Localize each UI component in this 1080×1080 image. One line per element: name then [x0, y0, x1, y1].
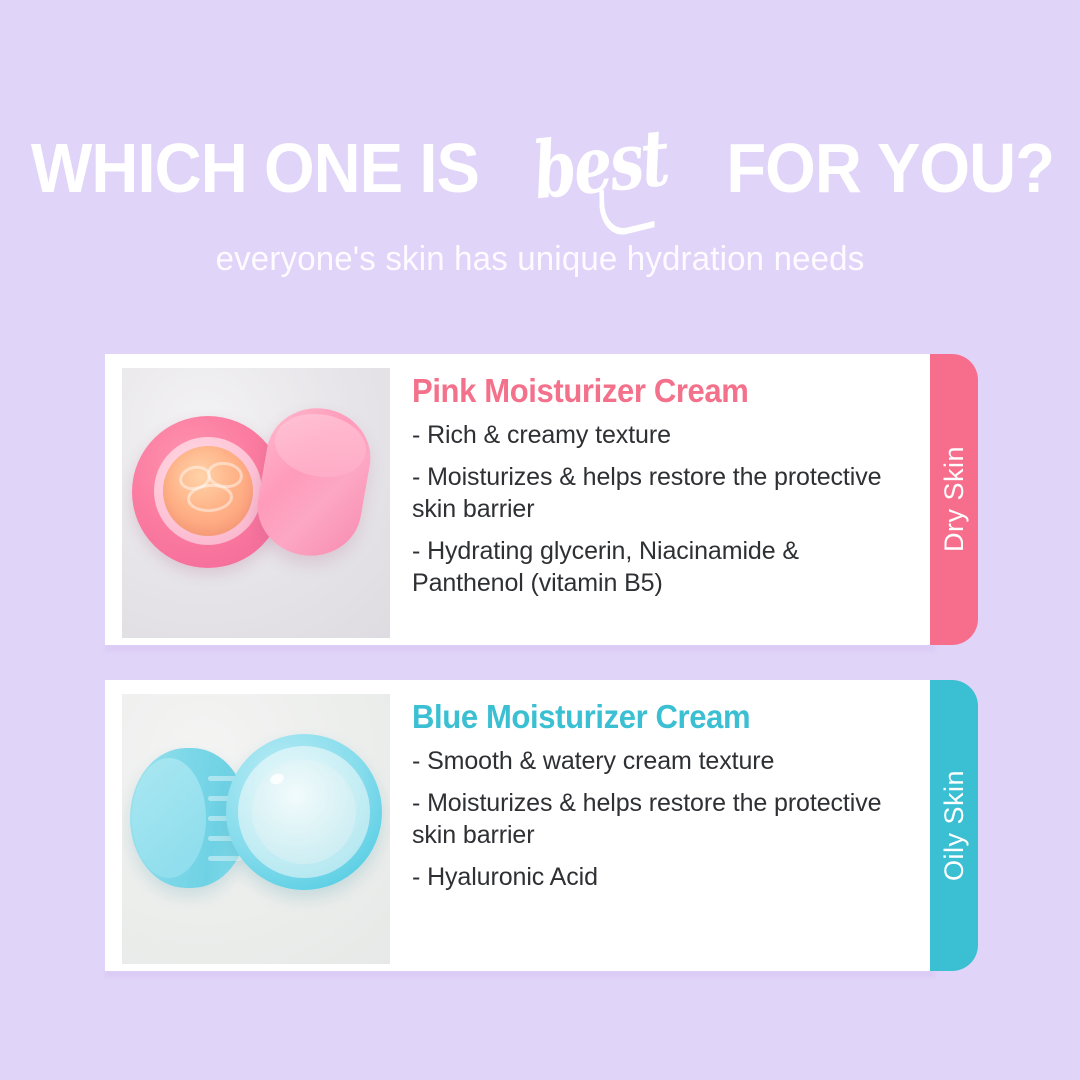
bullet-item: - Moisturizes & helps restore the protec… — [412, 461, 902, 525]
product-title-blue: Blue Moisturizer Cream — [412, 698, 873, 736]
pink-lid-highlight — [270, 407, 371, 484]
bullet-item: - Hyaluronic Acid — [412, 861, 902, 893]
tab-label-oily-skin: Oily Skin — [939, 770, 970, 881]
pink-cream-surface — [163, 446, 253, 536]
headline-part-1: WHICH ONE IS — [30, 133, 478, 203]
product-card-blue[interactable]: Blue Moisturizer Cream - Smooth & watery… — [105, 680, 930, 971]
tab-label-dry-skin: Dry Skin — [939, 446, 970, 552]
product-image-pink — [122, 368, 390, 638]
headline: WHICH ONE IS best FOR YOU? — [0, 130, 1080, 214]
bullet-item: - Smooth & watery cream texture — [412, 745, 902, 777]
gel-bubble — [269, 772, 286, 786]
product-card-pink[interactable]: Pink Moisturizer Cream - Rich & creamy t… — [105, 354, 930, 645]
subtitle: everyone's skin has unique hydration nee… — [16, 240, 1064, 279]
card-body-pink: Pink Moisturizer Cream - Rich & creamy t… — [390, 354, 930, 609]
skin-type-tab-dry[interactable]: Dry Skin — [930, 354, 978, 645]
headline-part-2: FOR YOU? — [726, 133, 1054, 203]
bullet-item: - Rich & creamy texture — [412, 419, 902, 451]
poster-canvas: WHICH ONE IS best FOR YOU? everyone's sk… — [0, 0, 1080, 1080]
card-body-blue: Blue Moisturizer Cream - Smooth & watery… — [390, 680, 930, 903]
pink-jar-rim — [154, 437, 262, 545]
bullet-item: - Moisturizes & helps restore the protec… — [412, 787, 902, 851]
bullet-item: - Hydrating glycerin, Niacinamide & Pant… — [412, 535, 902, 599]
headline-script-word: best — [525, 119, 676, 212]
blue-gel-surface — [252, 760, 356, 864]
blue-jar-rim — [238, 746, 370, 878]
header-block: WHICH ONE IS best FOR YOU? everyone's sk… — [0, 130, 1080, 279]
blue-jar-body — [226, 734, 382, 890]
card-shadow-blue — [105, 971, 935, 977]
pink-jar-lid — [250, 400, 378, 564]
product-title-pink: Pink Moisturizer Cream — [412, 372, 873, 410]
blue-lid-face — [132, 758, 206, 878]
lid-ridge — [208, 856, 242, 861]
blue-jar-photo — [122, 694, 390, 964]
pink-jar-photo — [122, 368, 390, 638]
skin-type-tab-oily[interactable]: Oily Skin — [930, 680, 978, 971]
card-shadow-pink — [105, 645, 935, 651]
product-image-blue — [122, 694, 390, 964]
